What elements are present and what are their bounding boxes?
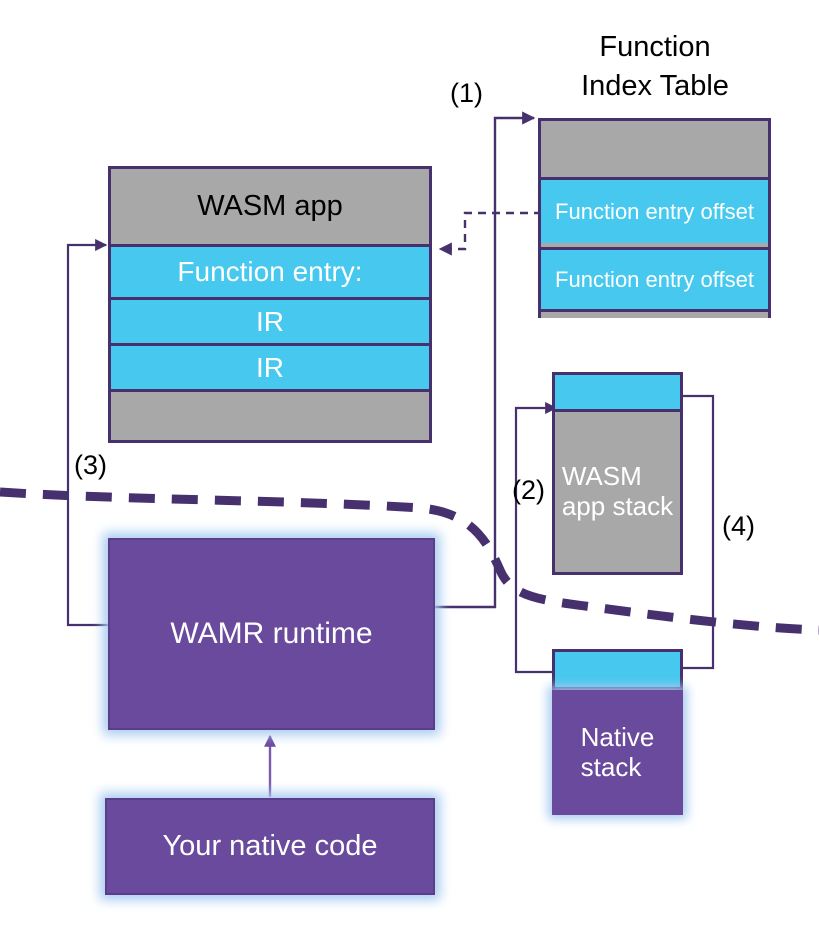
function-index-table-footer: [541, 309, 768, 318]
wasm-app-box: WASM app Function entry: IR IR: [108, 166, 432, 443]
wasm-app-row-ir-1-label: IR: [256, 306, 284, 338]
function-index-table-row-0: Function entry offset: [541, 177, 768, 243]
wasm-app-row-function-entry: Function entry:: [111, 244, 429, 297]
function-index-table-row-0-label: Function entry offset: [555, 199, 754, 225]
wasm-app-row-divider: [111, 389, 429, 392]
function-index-table-row-1: Function entry offset: [541, 247, 768, 309]
wasm-app-stack-top-band: [552, 372, 683, 412]
function-index-table-title-line2: Index Table: [520, 67, 790, 106]
wasm-app-stack-label: WASM app stack: [562, 462, 673, 522]
native-stack-label: Native stack: [581, 723, 655, 783]
wasm-app-stack-box: WASM app stack: [552, 412, 683, 575]
diagram-canvas: Function Index Table Function entry offs…: [0, 0, 819, 925]
wamr-runtime-label: WAMR runtime: [170, 617, 372, 651]
connector-step-1: [423, 118, 535, 612]
your-native-code-label: Your native code: [163, 830, 378, 863]
native-stack-box: Native stack: [552, 690, 683, 815]
connector-step-3: [68, 245, 108, 625]
wamr-runtime-box: WAMR runtime: [108, 538, 435, 730]
function-index-table-title-line1: Function: [520, 28, 790, 67]
your-native-code-box: Your native code: [105, 798, 435, 895]
wasm-app-title: WASM app: [111, 169, 429, 244]
function-index-table-row-1-label: Function entry offset: [555, 267, 754, 293]
wasm-app-row-function-entry-label: Function entry:: [177, 256, 362, 288]
step-label-1: (1): [450, 78, 483, 109]
step-label-3: (3): [74, 450, 107, 481]
wasm-app-row-ir-2: IR: [111, 343, 429, 389]
native-stack-top-band: [552, 649, 683, 690]
wasm-app-row-ir-1: IR: [111, 297, 429, 343]
step-label-2: (2): [512, 475, 545, 506]
function-index-table: Function entry offset Function entry off…: [538, 118, 771, 318]
wasm-app-row-ir-2-label: IR: [256, 352, 284, 384]
function-index-table-title: Function Index Table: [520, 28, 790, 106]
step-label-4: (4): [722, 511, 755, 542]
